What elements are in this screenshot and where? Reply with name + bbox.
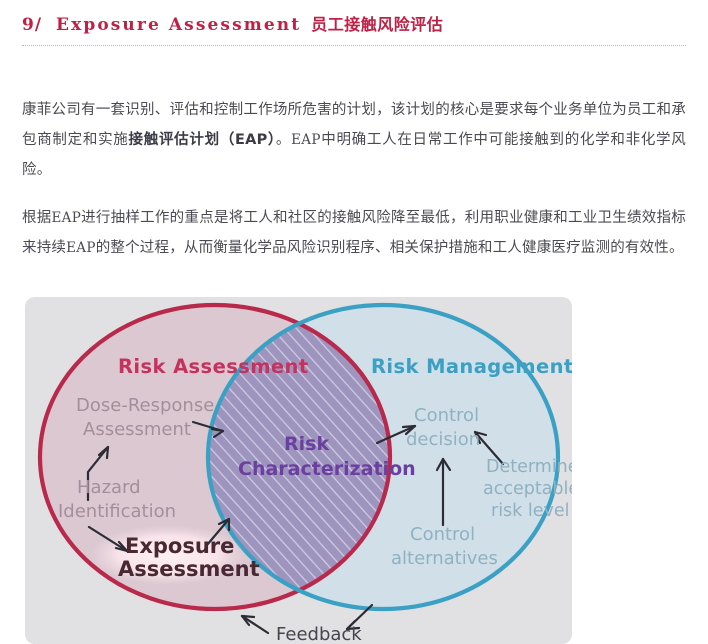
label-determine: Determine	[486, 457, 572, 477]
paragraph-1: 康菲公司有一套识别、评估和控制工作场所危害的计划，该计划的核心是要求每个业务单位…	[22, 95, 686, 185]
label-control-alternatives: alternatives	[391, 548, 498, 569]
label-acceptable: acceptable	[483, 479, 572, 499]
paragraph-2-eap-abbr-1: EAP	[52, 210, 82, 226]
paragraph-1-part-b: 。	[276, 132, 291, 148]
paragraph-2-part-a: 根据	[22, 210, 52, 226]
heading-divider	[22, 45, 686, 47]
document-page: 9/ Exposure Assessment 员工接触风险评估 康菲公司有一套识…	[0, 0, 708, 644]
label-risk-characterization-line2: Characterization	[238, 458, 416, 480]
section-title-chinese: 员工接触风险评估	[311, 11, 443, 35]
venn-diagram-svg: Risk Assessment Dose-Response Assessment…	[25, 297, 572, 644]
paragraph-2-part-c: 的整个过程，从而衡量化学品风险识别程序、相关保护措施和工人健康医疗监测的有效性。	[96, 240, 684, 256]
label-control-2: Control	[410, 524, 475, 545]
label-dose-response-assessment: Assessment	[83, 419, 191, 440]
label-hazard: Hazard	[77, 477, 141, 498]
label-dose-response: Dose-Response	[76, 395, 214, 416]
section-number: 9/	[22, 15, 42, 35]
label-exposure-assessment: Assessment	[118, 557, 260, 581]
label-risk-level: risk level	[491, 501, 570, 521]
label-control-decision: decision	[406, 429, 480, 450]
label-risk-management: Risk Management	[371, 355, 572, 378]
venn-diagram-figure: Risk Assessment Dose-Response Assessment…	[25, 297, 572, 644]
paragraph-1-bold-term: 接触评估计划（EAP）	[129, 132, 276, 148]
label-exposure: Exposure	[125, 534, 234, 558]
section-title-english: Exposure Assessment	[56, 15, 301, 35]
label-risk-assessment: Risk Assessment	[118, 355, 309, 378]
paragraph-1-eap-abbr: EAP	[291, 132, 321, 148]
paragraph-2-eap-abbr-2: EAP	[66, 240, 96, 256]
label-identification: Identification	[58, 501, 176, 522]
label-risk-characterization-line1: Risk	[284, 433, 329, 455]
page-title: 9/ Exposure Assessment 员工接触风险评估	[22, 11, 443, 35]
paragraph-2: 根据EAP进行抽样工作的重点是将工人和社区的接触风险降至最低，利用职业健康和工业…	[22, 203, 686, 263]
label-control: Control	[414, 405, 479, 426]
label-feedback: Feedback	[276, 624, 362, 644]
